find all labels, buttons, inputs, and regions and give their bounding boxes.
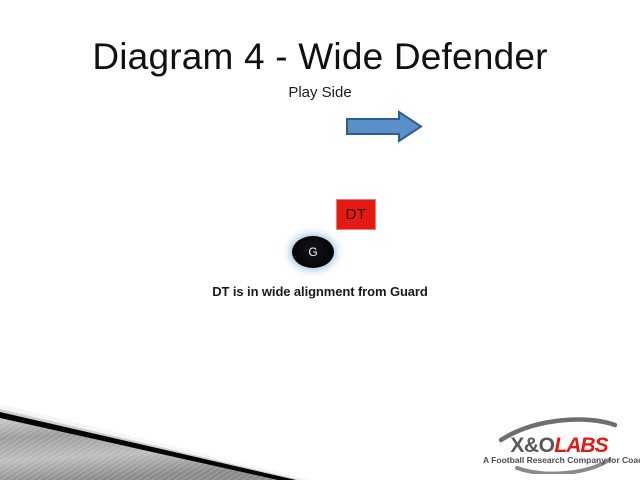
player-label-dt: DT bbox=[346, 206, 367, 223]
corner-wedge-decoration bbox=[0, 400, 320, 480]
player-marker-dt: DT bbox=[336, 199, 376, 230]
logo-tagline: A Football Research Company for Coaches bbox=[483, 455, 635, 465]
logo-brand-secondary: LABS bbox=[554, 434, 607, 457]
page-title: Diagram 4 - Wide Defender bbox=[0, 36, 640, 78]
right-arrow-icon bbox=[345, 110, 423, 144]
slide-canvas: Diagram 4 - Wide Defender Play Side DT G… bbox=[0, 0, 640, 480]
logo-brand-primary: X&O bbox=[510, 434, 554, 457]
brand-logo: X&OLABS A Football Research Company for … bbox=[483, 416, 635, 474]
play-direction-arrow bbox=[345, 110, 423, 144]
player-marker-guard: G bbox=[288, 232, 338, 272]
play-side-label: Play Side bbox=[0, 84, 640, 101]
guard-oval-shape: G bbox=[292, 236, 334, 268]
diagram-caption: DT is in wide alignment from Guard bbox=[0, 284, 640, 299]
player-label-guard: G bbox=[308, 245, 317, 259]
